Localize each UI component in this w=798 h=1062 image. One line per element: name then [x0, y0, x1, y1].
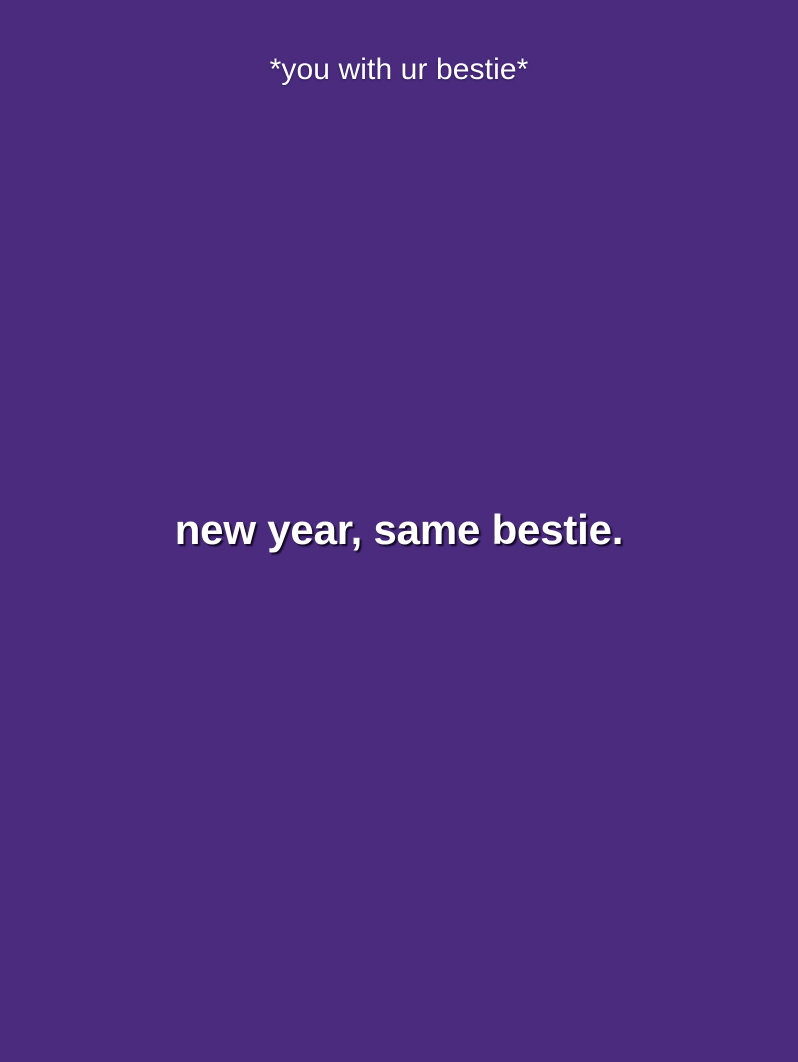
story-canvas: *you with ur bestie* new year, same best…	[0, 0, 798, 1062]
headline-text: new year, same bestie.	[175, 505, 624, 555]
lower-media-area	[0, 600, 798, 1062]
caption-text: *you with ur bestie*	[270, 52, 529, 88]
caption-layer: *you with ur bestie*	[0, 52, 798, 88]
headline-layer: new year, same bestie.	[0, 505, 798, 555]
media-area	[0, 110, 798, 490]
